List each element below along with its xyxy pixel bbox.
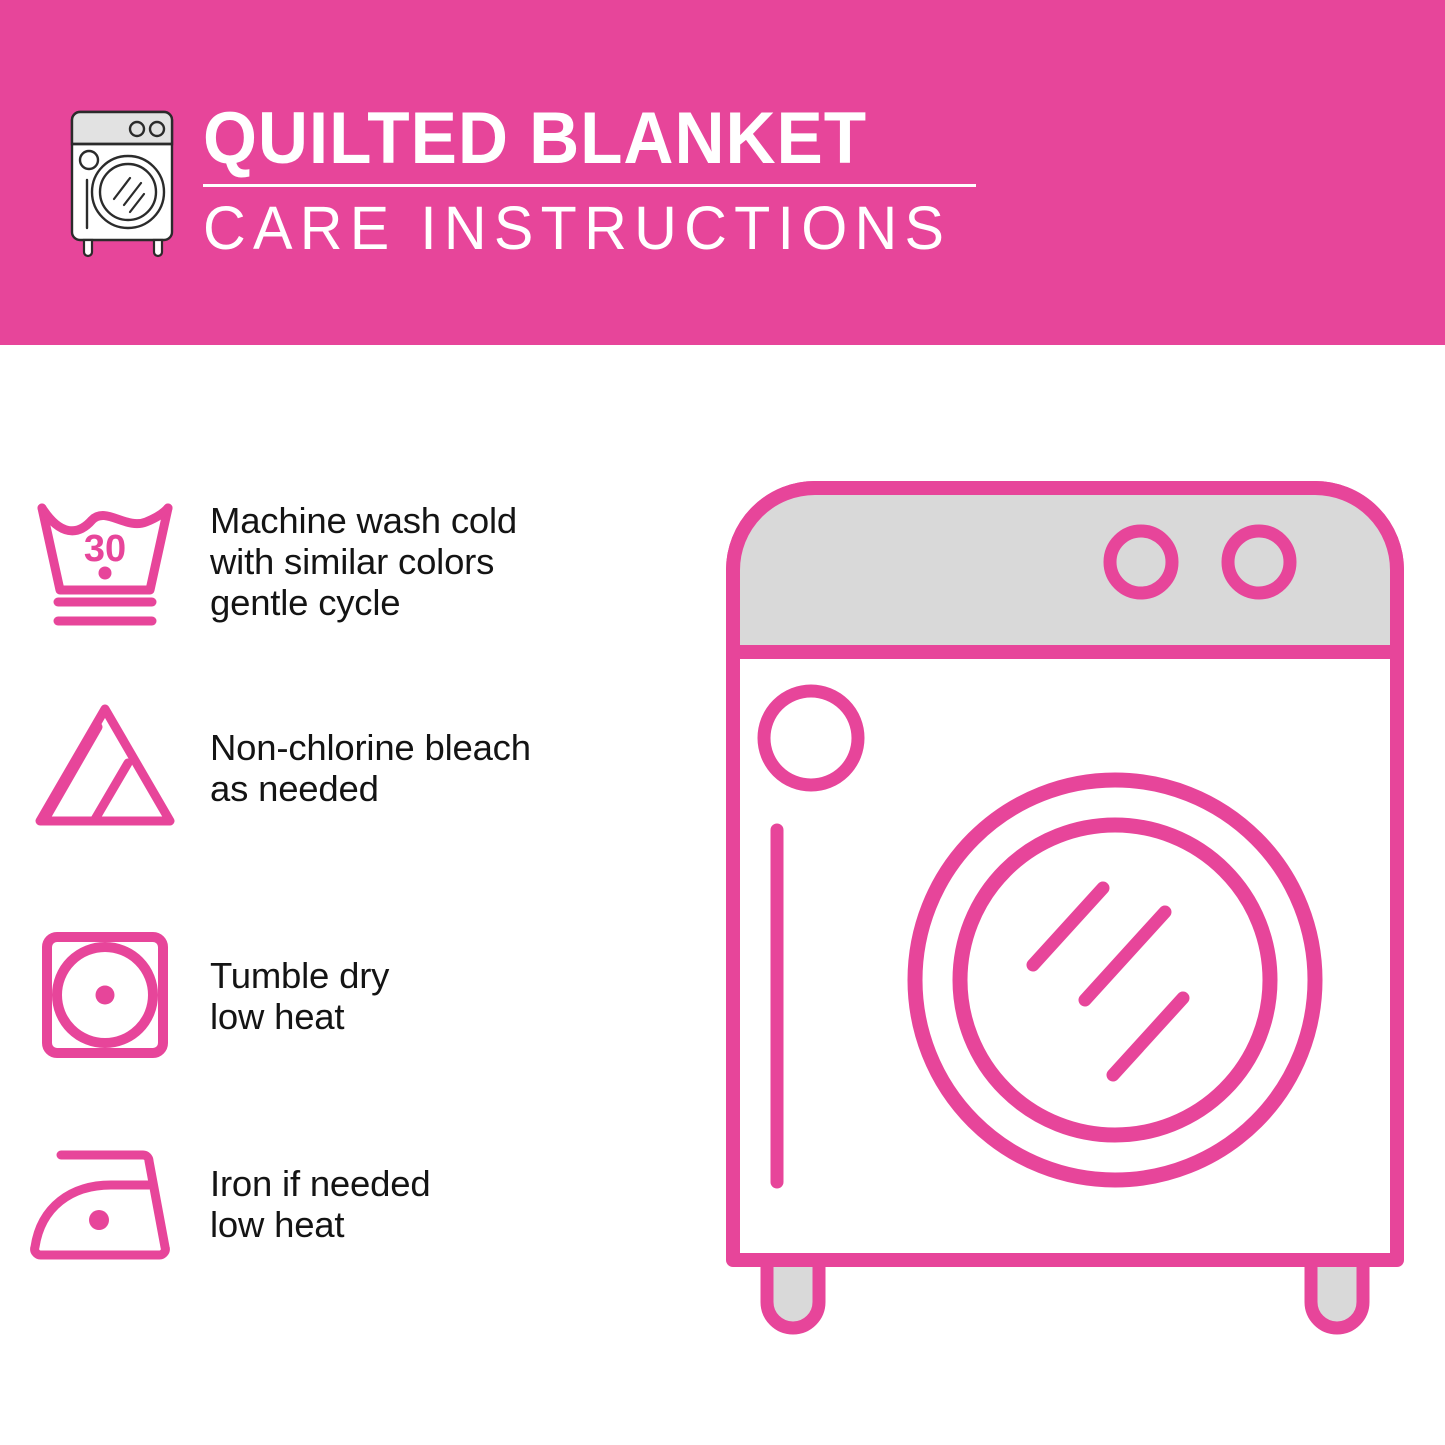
tumble-dry-low-icon xyxy=(0,925,210,1065)
non-chlorine-bleach-triangle-icon xyxy=(0,697,210,837)
list-item-label: Machine wash cold with similar colors ge… xyxy=(210,490,517,623)
list-item: Tumble dry low heat xyxy=(0,925,700,1065)
iron-low-heat-icon xyxy=(0,1135,210,1270)
list-item: Iron if needed low heat xyxy=(0,1135,700,1270)
list-item-label: Tumble dry low heat xyxy=(210,925,389,1037)
page-title: QUILTED BLANKET xyxy=(203,100,963,178)
header-text-block: QUILTED BLANKET CARE INSTRUCTIONS xyxy=(203,100,1003,261)
list-item-label: Iron if needed low heat xyxy=(210,1135,430,1245)
list-item-label: Non-chlorine bleach as needed xyxy=(210,697,531,809)
front-load-washing-machine-illustration xyxy=(715,470,1415,1370)
page-subtitle: CARE INSTRUCTIONS xyxy=(203,195,979,261)
care-instructions-page: QUILTED BLANKET CARE INSTRUCTIONS 30 xyxy=(0,0,1445,1445)
list-item: 30 Machine wash cold with similar colors… xyxy=(0,490,700,635)
list-item: Non-chlorine bleach as needed xyxy=(0,697,700,837)
wash-tub-30-gentle-icon: 30 xyxy=(0,490,210,635)
washing-machine-icon xyxy=(62,104,192,259)
title-divider xyxy=(203,184,976,187)
care-instruction-list: 30 Machine wash cold with similar colors… xyxy=(0,345,700,1445)
page-header: QUILTED BLANKET CARE INSTRUCTIONS xyxy=(0,0,1445,345)
svg-text:30: 30 xyxy=(84,528,126,570)
